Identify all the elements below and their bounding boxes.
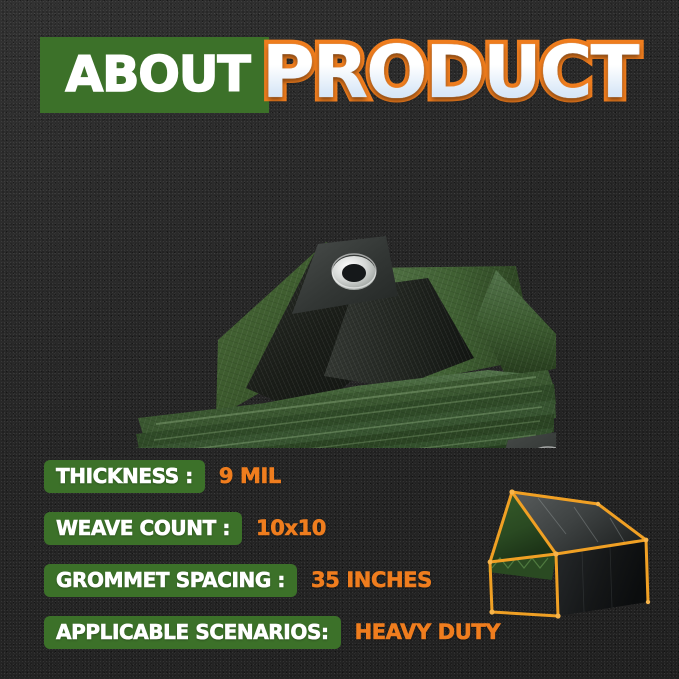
product-photo-folded-tarp (96, 118, 556, 448)
header: ABOUT PRODUCT PRODUCT (0, 0, 679, 125)
spec-value-grommet-spacing: 35 INCHES (311, 568, 432, 592)
spec-label-pill-grommet-spacing: GROMMET SPACING : (44, 564, 297, 597)
spec-label-pill-weave-count: WEAVE COUNT : (44, 512, 242, 545)
spec-label-applicable-scenarios: APPLICABLE SCENARIOS: (56, 620, 329, 644)
page-title-product-outline: PRODUCT (262, 28, 638, 116)
spec-value-weave-count: 10x10 (256, 516, 326, 540)
spec-value-thickness: 9 MIL (219, 464, 281, 488)
tent-shelter-illustration (478, 476, 664, 624)
spec-label-pill-thickness: THICKNESS : (44, 460, 205, 493)
spec-label-weave-count: WEAVE COUNT : (56, 516, 230, 540)
infographic-page: ABOUT PRODUCT PRODUCT (0, 0, 679, 679)
spec-label-grommet-spacing: GROMMET SPACING : (56, 568, 285, 592)
spec-label-pill-applicable-scenarios: APPLICABLE SCENARIOS: (44, 616, 341, 649)
page-title-about: ABOUT (50, 43, 265, 107)
spec-label-thickness: THICKNESS : (56, 464, 193, 488)
